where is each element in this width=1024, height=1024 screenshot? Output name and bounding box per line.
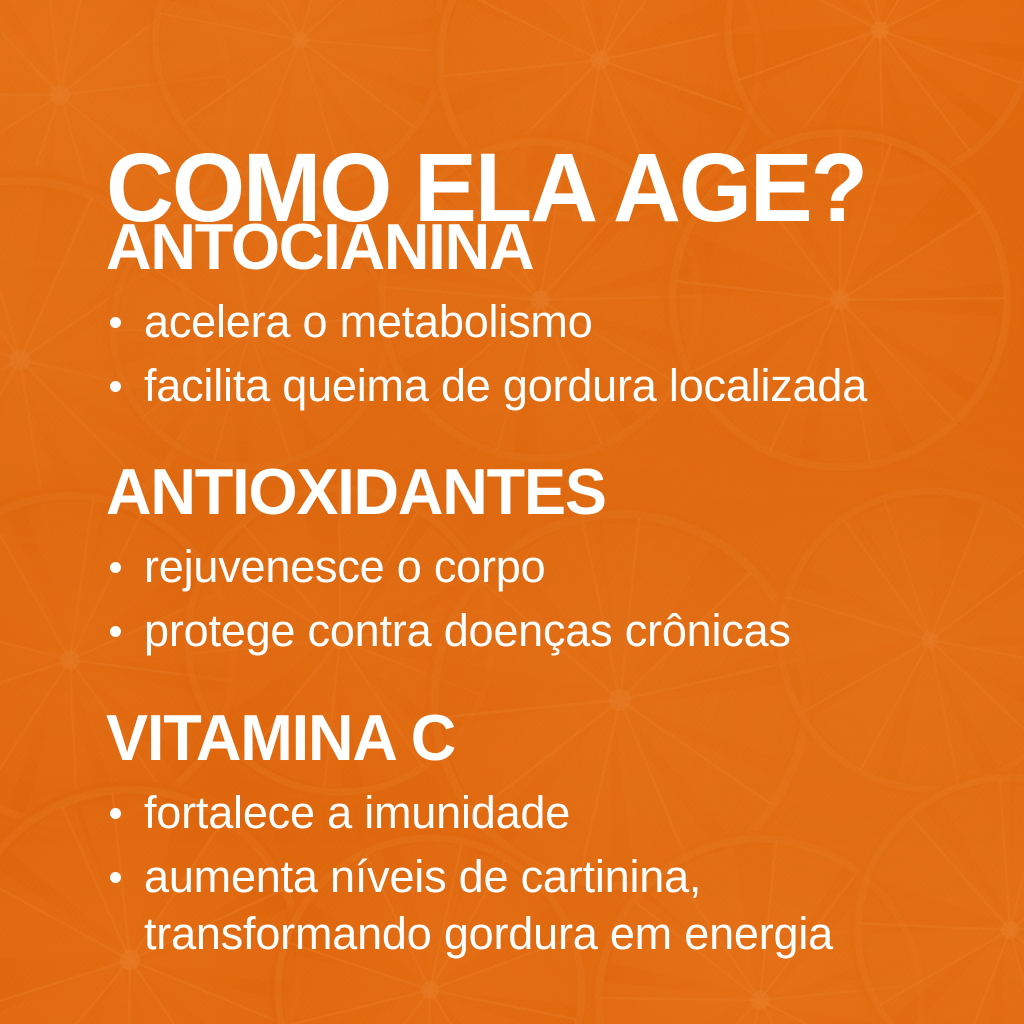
list-item-label-continuation: transformando gordura em energia [144,905,1006,963]
list-item: protege contra doenças crônicas [106,602,1006,660]
bullet-list-antioxidantes: rejuvenesce o corpo protege contra doenç… [106,538,1006,659]
list-item-label: aumenta níveis de cartinina, [144,848,1006,906]
poster-canvas: COMO ELA AGE? ANTOCIANINA acelera o meta… [0,0,1024,1024]
bullet-list-antocianina: acelera o metabolismo facilita queima de… [106,293,1006,414]
bullet-dot-icon [110,562,121,573]
section-heading-antocianina: ANTOCIANINA [106,214,979,279]
list-item: fortalece a imunidade [106,784,1006,842]
list-item-label: fortalece a imunidade [144,784,1006,842]
section-heading-antioxidantes: ANTIOXIDANTES [106,459,979,524]
list-item-label: facilita queima de gordura localizada [144,357,1006,415]
section-antioxidantes: ANTIOXIDANTES rejuvenesce o corpo proteg… [106,459,1006,665]
section-antocianina: ANTOCIANINA acelera o metabolismo facili… [106,214,1006,420]
list-item: aumenta níveis de cartinina, transforman… [106,848,1006,963]
bullet-dot-icon [110,808,121,819]
bullet-dot-icon [110,872,121,883]
list-item-label: rejuvenesce o corpo [144,538,1006,596]
bullet-dot-icon [110,317,121,328]
list-item: acelera o metabolismo [106,293,1006,351]
bullet-dot-icon [110,626,121,637]
bullet-dot-icon [110,381,121,392]
section-heading-vitamina-c: VITAMINA C [106,705,979,770]
section-vitamina-c: VITAMINA C fortalece a imunidade aumenta… [106,705,1006,969]
list-item-label: protege contra doenças crônicas [144,602,1006,660]
list-item-label: acelera o metabolismo [144,293,1006,351]
poster-content: COMO ELA AGE? ANTOCIANINA acelera o meta… [0,0,1024,1024]
list-item: rejuvenesce o corpo [106,538,1006,596]
bullet-list-vitamina-c: fortalece a imunidade aumenta níveis de … [106,784,1006,963]
list-item: facilita queima de gordura localizada [106,357,1006,415]
